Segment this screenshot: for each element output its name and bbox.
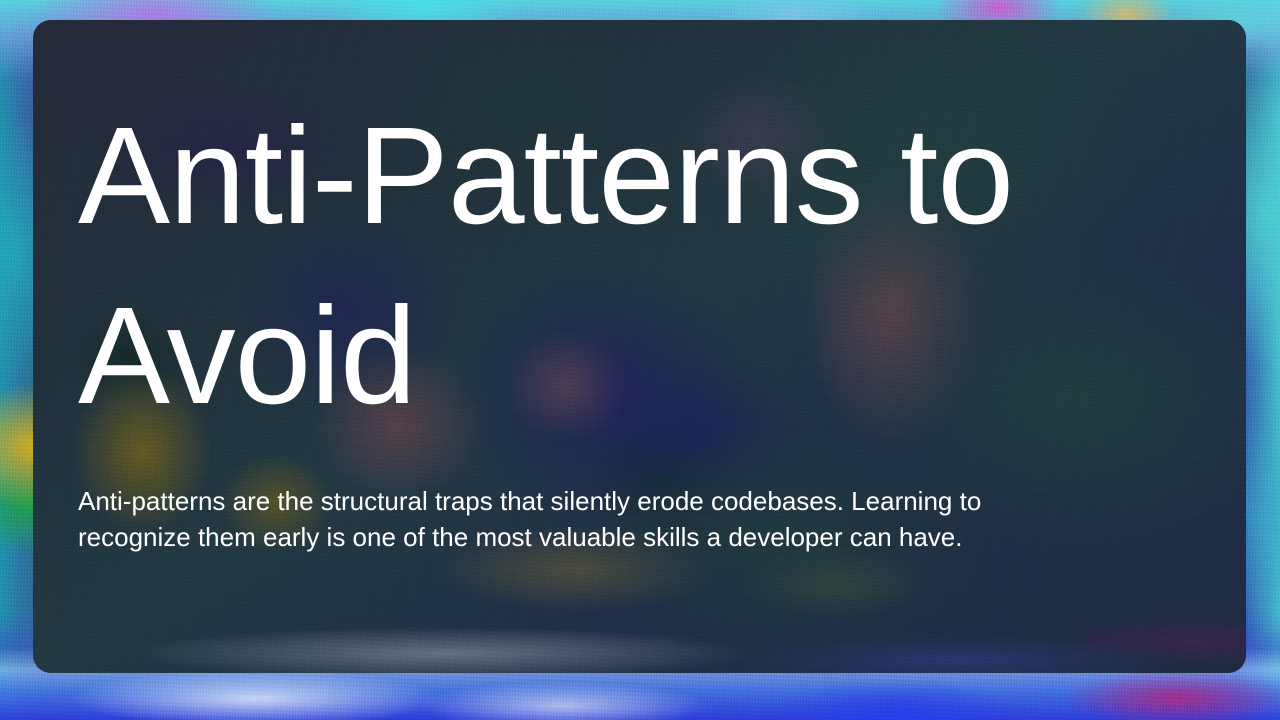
slide-title: Anti-Patterns to Avoid xyxy=(78,86,1088,446)
presentation-slide: Anti-Patterns to Avoid Anti-patterns are… xyxy=(0,0,1280,720)
slide-text-content: Anti-Patterns to Avoid Anti-patterns are… xyxy=(78,20,1088,673)
content-card-overlay: Anti-Patterns to Avoid Anti-patterns are… xyxy=(33,20,1246,673)
slide-subtitle: Anti-patterns are the structural traps t… xyxy=(78,483,1063,555)
